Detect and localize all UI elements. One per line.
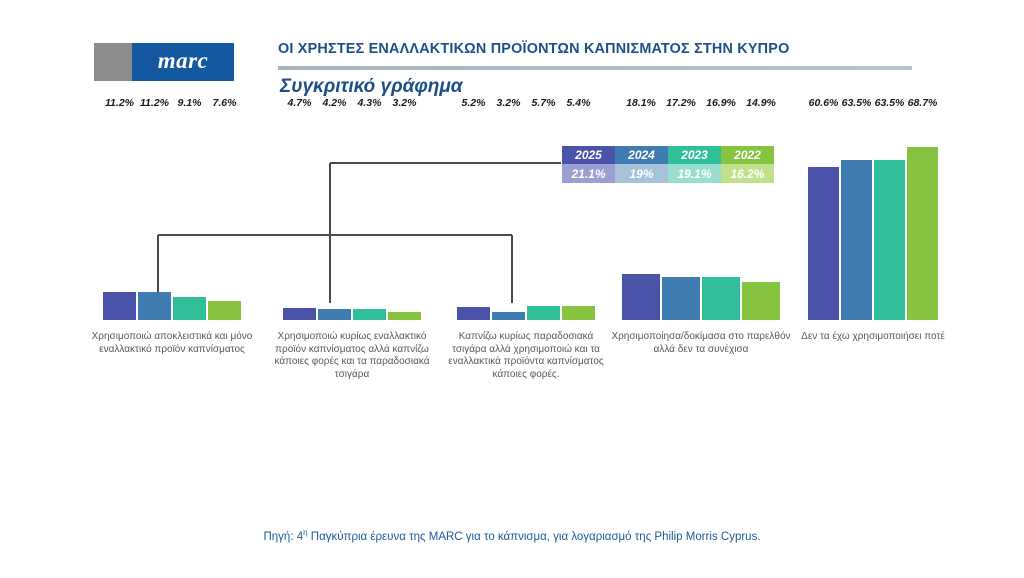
bar-column[interactable]: 63.5%	[874, 110, 905, 320]
logo-blue-box: marc	[132, 43, 234, 81]
category-label: Χρησιμοποιώ κυρίως εναλλακτικό προϊόν κα…	[268, 331, 436, 381]
bar-value-label: 14.9%	[746, 97, 776, 109]
bar-2024[interactable]	[138, 292, 171, 320]
bar-value-label: 68.7%	[908, 97, 938, 109]
bar-value-label: 4.2%	[323, 97, 347, 109]
bar-value-label: 17.2%	[666, 97, 696, 109]
bar-group-bars: 18.1%17.2%16.9%14.9%	[622, 110, 780, 320]
bar-2025[interactable]	[103, 292, 136, 320]
bar-2024[interactable]	[318, 309, 351, 320]
bar-column[interactable]: 60.6%	[808, 110, 839, 320]
bar-value-label: 18.1%	[626, 97, 656, 109]
bar-group-bars: 11.2%11.2%9.1%7.6%	[103, 110, 241, 320]
title-divider	[278, 66, 912, 70]
bar-2022[interactable]	[562, 306, 595, 320]
bar-2022[interactable]	[907, 147, 938, 320]
logo-wordmark: marc	[158, 48, 209, 76]
bar-2023[interactable]	[353, 309, 386, 320]
category-label: Δεν τα έχω χρησιμοποιήσει ποτέ	[793, 331, 953, 344]
bar-column[interactable]: 11.2%	[138, 110, 171, 320]
bar-2022[interactable]	[208, 301, 241, 320]
bar-column[interactable]: 68.7%	[907, 110, 938, 320]
bar-value-label: 5.4%	[567, 97, 591, 109]
grouped-bar-chart: 11.2%11.2%9.1%7.6%Χρησιμοποιώ αποκλειστι…	[0, 190, 1024, 500]
bar-2024[interactable]	[492, 312, 525, 320]
bar-value-label: 3.2%	[393, 97, 417, 109]
bar-value-label: 16.9%	[706, 97, 736, 109]
bar-value-label: 11.2%	[105, 97, 134, 109]
bar-2022[interactable]	[742, 282, 780, 320]
bar-group: 18.1%17.2%16.9%14.9%Χρησιμοποίησα/δοκίμα…	[622, 110, 780, 320]
bar-column[interactable]: 18.1%	[622, 110, 660, 320]
bar-group: 11.2%11.2%9.1%7.6%Χρησιμοποιώ αποκλειστι…	[103, 110, 241, 320]
bar-column[interactable]: 5.7%	[527, 110, 560, 320]
source-prefix: Πηγή: 4	[263, 531, 303, 543]
bar-2025[interactable]	[457, 307, 490, 320]
bar-2023[interactable]	[173, 297, 206, 320]
bar-column[interactable]: 9.1%	[173, 110, 206, 320]
bar-group-bars: 4.7%4.2%4.3%3.2%	[283, 110, 421, 320]
bar-2024[interactable]	[662, 277, 700, 320]
bar-2023[interactable]	[874, 160, 905, 320]
category-label: Χρησιμοποιώ αποκλειστικά και μόνο εναλλα…	[88, 331, 256, 356]
bar-column[interactable]: 14.9%	[742, 110, 780, 320]
bar-column[interactable]: 3.2%	[492, 110, 525, 320]
category-label: Χρησιμοποίησα/δοκίμασα στο παρελθόν αλλά…	[607, 331, 795, 356]
page-title: ΟΙ ΧΡΗΣΤΕΣ ΕΝΑΛΛΑΚΤΙΚΩΝ ΠΡΟΪΟΝΤΩΝ ΚΑΠΝΙΣ…	[278, 41, 789, 57]
page-subtitle: Συγκριτικό γράφημα	[280, 76, 463, 98]
bar-2023[interactable]	[527, 306, 560, 320]
bar-column[interactable]: 4.7%	[283, 110, 316, 320]
bar-value-label: 4.3%	[358, 97, 382, 109]
bar-value-label: 11.2%	[140, 97, 169, 109]
bar-column[interactable]: 16.9%	[702, 110, 740, 320]
bar-column[interactable]: 4.2%	[318, 110, 351, 320]
bar-2025[interactable]	[808, 167, 839, 320]
bar-value-label: 60.6%	[809, 97, 839, 109]
slide-header: marc ΟΙ ΧΡΗΣΤΕΣ ΕΝΑΛΛΑΚΤΙΚΩΝ ΠΡΟΪΟΝΤΩΝ Κ…	[0, 0, 1024, 112]
bar-column[interactable]: 4.3%	[353, 110, 386, 320]
bar-value-label: 63.5%	[842, 97, 872, 109]
bar-column[interactable]: 63.5%	[841, 110, 872, 320]
bar-value-label: 5.7%	[532, 97, 556, 109]
bar-column[interactable]: 17.2%	[662, 110, 700, 320]
bar-group: 5.2%3.2%5.7%5.4%Καπνίζω κυρίως παραδοσια…	[457, 110, 595, 320]
bar-group: 60.6%63.5%63.5%68.7%Δεν τα έχω χρησιμοπο…	[808, 110, 938, 320]
bar-column[interactable]: 5.2%	[457, 110, 490, 320]
bar-group-bars: 5.2%3.2%5.7%5.4%	[457, 110, 595, 320]
bar-value-label: 4.7%	[288, 97, 312, 109]
bar-2025[interactable]	[283, 308, 316, 320]
bar-2024[interactable]	[841, 160, 872, 320]
bar-column[interactable]: 5.4%	[562, 110, 595, 320]
bar-2023[interactable]	[702, 277, 740, 320]
bar-column[interactable]: 11.2%	[103, 110, 136, 320]
bar-value-label: 3.2%	[497, 97, 521, 109]
bar-value-label: 7.6%	[213, 97, 237, 109]
source-note: Πηγή: 4η Παγκύπρια έρευνα της MARC για τ…	[0, 528, 1024, 543]
logo-gray-square	[94, 43, 132, 81]
slide: marc ΟΙ ΧΡΗΣΤΕΣ ΕΝΑΛΛΑΚΤΙΚΩΝ ΠΡΟΪΟΝΤΩΝ Κ…	[0, 0, 1024, 578]
bar-group: 4.7%4.2%4.3%3.2%Χρησιμοποιώ κυρίως εναλλ…	[283, 110, 421, 320]
marc-logo: marc	[94, 43, 234, 81]
bar-value-label: 5.2%	[462, 97, 486, 109]
bar-value-label: 9.1%	[178, 97, 202, 109]
bar-2022[interactable]	[388, 312, 421, 320]
source-text: Παγκύπρια έρευνα της MARC για το κάπνισμ…	[308, 531, 761, 543]
bar-column[interactable]: 3.2%	[388, 110, 421, 320]
bar-2025[interactable]	[622, 274, 660, 320]
bar-column[interactable]: 7.6%	[208, 110, 241, 320]
bar-value-label: 63.5%	[875, 97, 905, 109]
category-label: Καπνίζω κυρίως παραδοσιακά τσιγάρα αλλά …	[442, 331, 610, 381]
bar-group-bars: 60.6%63.5%63.5%68.7%	[808, 110, 938, 320]
